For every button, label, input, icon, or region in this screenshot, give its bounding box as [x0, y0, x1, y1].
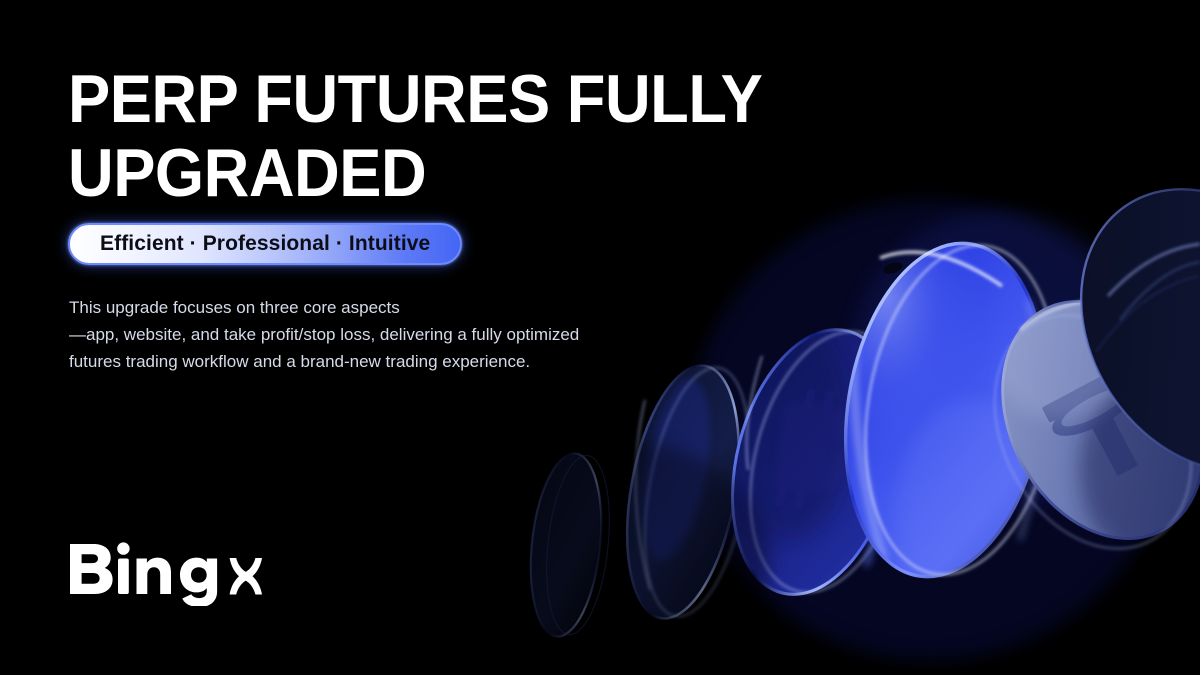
- coin-disc-4-hero: [819, 210, 1079, 640]
- page-title: PERP FUTURES FULLY UPGRADED: [68, 62, 762, 210]
- feature-highlight-badge: Efficient · Professional · Intuitive: [68, 223, 462, 265]
- description-text: This upgrade focuses on three core aspec…: [69, 294, 729, 375]
- feature-highlight-badge-label: Efficient · Professional · Intuitive: [100, 232, 430, 256]
- coin-disc-5-tether: [956, 266, 1200, 582]
- bingx-logo: [68, 538, 264, 606]
- coin-disc-3-bitcoin: [707, 312, 933, 612]
- promo-banner: PERP FUTURES FULLY UPGRADED Efficient · …: [0, 0, 1200, 675]
- coin-disc-6: [1028, 140, 1200, 521]
- coin-disc-1: [523, 450, 618, 640]
- coin-disc-2: [610, 357, 767, 627]
